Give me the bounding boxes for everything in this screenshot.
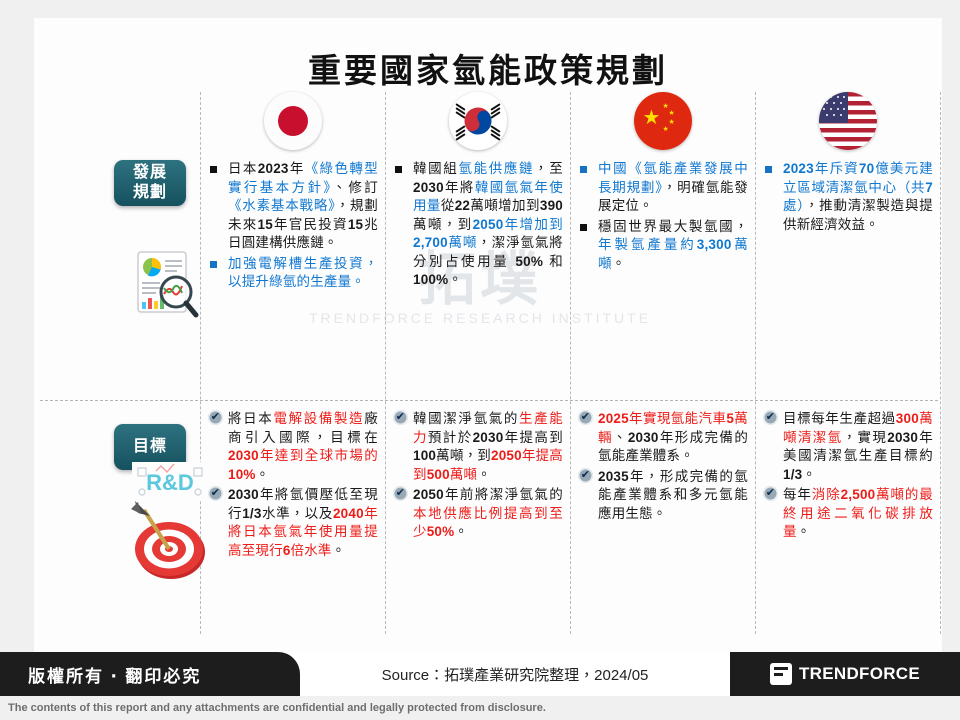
cell-goal-japan: 將日本電解設備製造廠商引入國際，目標在2030年達到全球市場的10%。 2030…	[202, 410, 384, 634]
rd-icon: R&D	[132, 462, 208, 500]
frame-left	[0, 0, 34, 652]
south-korea-flag-icon	[449, 92, 507, 150]
divider-col-1	[385, 92, 386, 634]
cell-development-plan-china: 中國《氫能產業發展中長期規劃》，明確氫能發展定位。 穩固世界最大製氫國，年製氫產…	[572, 160, 754, 394]
footer-brand: TRENDFORCE	[730, 652, 960, 696]
column-header-usa	[755, 92, 940, 154]
cell-development-plan-japan: 日本2023年《綠色轉型實行基本方針》、修訂《水素基本戰略》，規劃未來15年官民…	[202, 160, 384, 394]
slide-canvas: 重要國家氫能政策規劃 拓墣 TRENDFORCE RESEARCH INSTIT…	[0, 0, 960, 720]
list-item: 2050年前將潔淨氫氣的本地供應比例提高到至少50%。	[393, 486, 563, 542]
trendforce-logo-icon	[770, 663, 792, 685]
divider-row	[40, 400, 938, 401]
divider-col-4	[940, 92, 941, 634]
list-item: 日本2023年《綠色轉型實行基本方針》、修訂《水素基本戰略》，規劃未來15年官民…	[208, 160, 378, 253]
footer-copyright: 版權所有 ‧ 翻印必究	[0, 652, 300, 696]
column-header-korea	[385, 92, 570, 154]
list-item: 2030年將氫價壓低至現行1/3水準，以及2040年將日本氫氣年使用量提高至現行…	[208, 486, 378, 560]
page-title: 重要國家氫能政策規劃	[34, 44, 942, 92]
cell-development-plan-usa: 2023年斥資70億美元建立區域清潔氫中心（共7處），推動清潔製造與提供新經濟效…	[757, 160, 939, 394]
footer-source-text: Source：拓璞產業研究院整理，2024/05	[382, 664, 649, 685]
frame-top	[0, 0, 960, 18]
list-item: 2023年斥資70億美元建立區域清潔氫中心（共7處），推動清潔製造與提供新經濟效…	[763, 160, 933, 234]
cell-development-plan-korea: 韓國組氫能供應鏈，至2030年將韓國氫氣年使用量從22萬噸增加到390萬噸，到2…	[387, 160, 569, 394]
list-item: 每年消除2,500萬噸的最終用途二氧化碳排放量。	[763, 486, 933, 542]
list-item: 韓國組氫能供應鏈，至2030年將韓國氫氣年使用量從22萬噸增加到390萬噸，到2…	[393, 160, 563, 290]
list-item: 目標每年生產超過300萬噸清潔氫，實現2030年美國清潔氫生產目標約1/3。	[763, 410, 933, 484]
row-label-line1: 發展	[133, 163, 167, 183]
footer-source: Source：拓璞產業研究院整理，2024/05	[300, 652, 730, 696]
list-item: 韓國潔淨氫氣的生產能力預計於2030年提高到100萬噸，到2050年提高到500…	[393, 410, 563, 484]
list-item: 穩固世界最大製氫國，年製氫產量約3,300萬噸。	[578, 218, 748, 274]
frame-right	[942, 0, 960, 652]
footer-disclaimer: The contents of this report and any atta…	[0, 696, 960, 720]
japan-flag-icon	[264, 92, 322, 150]
svg-text:R&D: R&D	[146, 470, 194, 495]
row-label-line2: 規劃	[133, 183, 167, 203]
target-dart-icon	[126, 496, 212, 582]
list-item: 2025年實現氫能汽車5萬輛、2030年形成完備的氫能產業體系。	[578, 410, 748, 466]
divider-col-2	[570, 92, 571, 634]
column-header-japan	[200, 92, 385, 154]
list-item: 加強電解槽生產投資，以提升綠氫的生產量。	[208, 255, 378, 292]
footer-copyright-text: 版權所有 ‧ 翻印必究	[28, 662, 201, 687]
row-label-development-plan: 發展 規劃	[114, 160, 186, 206]
footer-brand-text: TRENDFORCE	[799, 664, 920, 684]
report-analysis-icon	[130, 248, 202, 320]
flag-header-row: ★ ★ ★ ★ ★	[200, 92, 942, 154]
cell-goal-korea: 韓國潔淨氫氣的生產能力預計於2030年提高到100萬噸，到2050年提高到500…	[387, 410, 569, 634]
cell-goal-usa: 目標每年生產超過300萬噸清潔氫，實現2030年美國清潔氫生產目標約1/3。 每…	[757, 410, 939, 634]
divider-col-3	[755, 92, 756, 634]
list-item: 將日本電解設備製造廠商引入國際，目標在2030年達到全球市場的10%。	[208, 410, 378, 484]
usa-flag-icon	[819, 92, 877, 150]
list-item: 中國《氫能產業發展中長期規劃》，明確氫能發展定位。	[578, 160, 748, 216]
cell-goal-china: 2025年實現氫能汽車5萬輛、2030年形成完備的氫能產業體系。 2035年，形…	[572, 410, 754, 634]
list-item: 2035年，形成完備的氫能產業體系和多元氫能應用生態。	[578, 468, 748, 524]
china-flag-icon: ★ ★ ★ ★ ★	[634, 92, 692, 150]
column-header-china: ★ ★ ★ ★ ★	[570, 92, 755, 154]
